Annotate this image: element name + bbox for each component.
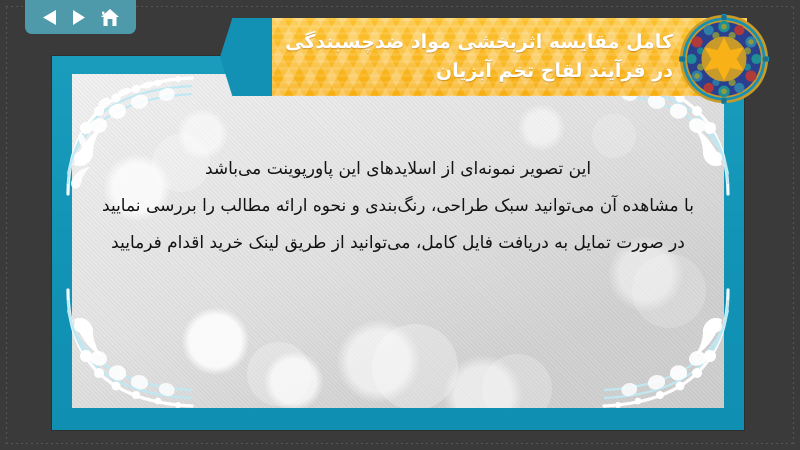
home-icon — [100, 8, 120, 27]
bokeh-circle — [247, 342, 311, 406]
title-line-2: در فرآیند لقاح تخم آبزیان — [436, 57, 673, 86]
triangle-right-icon — [72, 9, 86, 26]
body-line-3: در صورت تمایل به دریافت فایل کامل، می‌تو… — [82, 225, 714, 262]
slide-canvas: این تصویر نمونه‌ای از اسلایدهای این پاور… — [0, 0, 800, 450]
body-line-1: این تصویر نمونه‌ای از اسلایدهای این پاور… — [82, 151, 714, 188]
islamic-medallion-ornament — [679, 14, 769, 104]
slide-card: این تصویر نمونه‌ای از اسلایدهای این پاور… — [52, 56, 744, 430]
slide-navigation-bar[interactable] — [25, 0, 136, 34]
triangle-left-icon — [42, 9, 58, 26]
bokeh-circle — [482, 354, 552, 408]
slide-body-text: این تصویر نمونه‌ای از اسلایدهای این پاور… — [82, 151, 714, 262]
body-line-2: با مشاهده آن می‌توانید سبک طراحی، رنگ‌بن… — [82, 188, 714, 225]
forward-button[interactable] — [72, 9, 86, 26]
slide-title-banner: کامل مقایسه اثربخشی مواد ضدچسبندگی در فر… — [272, 18, 747, 96]
back-button[interactable] — [42, 9, 58, 26]
bokeh-circle — [632, 254, 706, 328]
title-line-1: کامل مقایسه اثربخشی مواد ضدچسبندگی — [285, 28, 673, 57]
bokeh-circle — [372, 324, 458, 408]
home-button[interactable] — [100, 8, 120, 27]
